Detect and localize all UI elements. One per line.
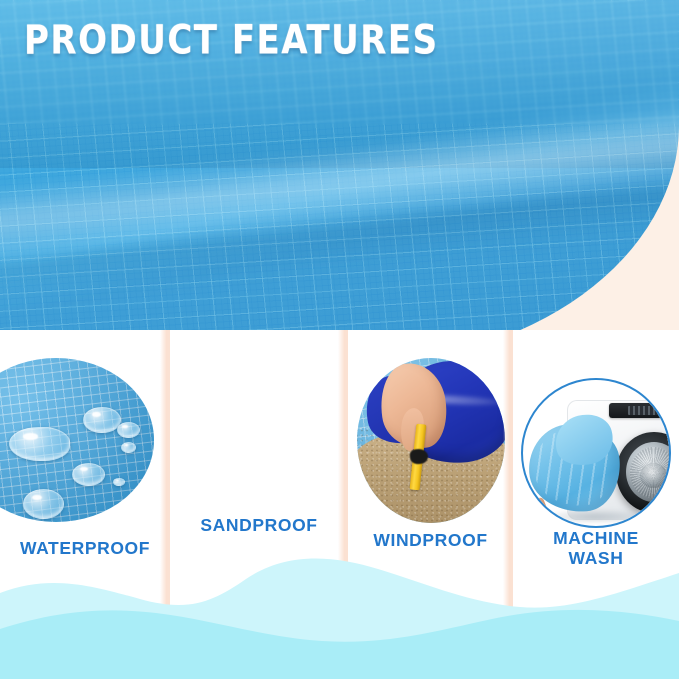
feature-label-sandproof: SANDPROOF (170, 515, 348, 535)
machine-wash-icon (521, 378, 671, 528)
program-dial (667, 405, 669, 417)
feature-label-windproof: WINDPROOF (348, 530, 513, 550)
label-line-1: MACHINE (513, 528, 679, 548)
contact-shadow (538, 509, 652, 522)
drum-opening (640, 463, 667, 488)
washer-scene (523, 380, 669, 526)
water-drop (72, 463, 105, 486)
infographic-canvas: PRODUCT FEATURES WATERPROOF (0, 0, 679, 679)
water-drop (23, 489, 64, 519)
water-drop (9, 427, 70, 461)
bottom-wave-decoration (0, 549, 679, 679)
water-drop (83, 407, 120, 433)
waterproof-icon (0, 358, 154, 522)
water-drop (113, 478, 125, 486)
windproof-icon (357, 358, 505, 523)
control-display (628, 406, 657, 416)
washer-door (616, 432, 669, 513)
page-title: PRODUCT FEATURES (24, 17, 439, 64)
door-glass (626, 442, 669, 502)
